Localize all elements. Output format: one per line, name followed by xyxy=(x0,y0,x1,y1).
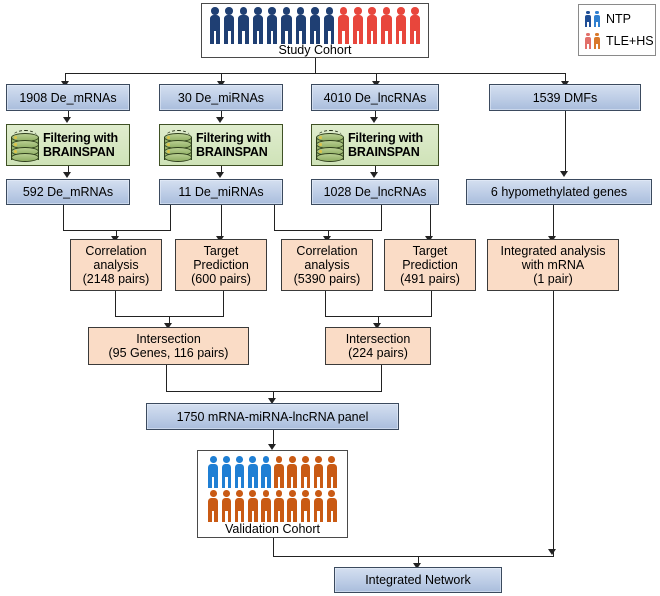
arrowhead-filter-1 xyxy=(63,117,71,123)
person-icon xyxy=(207,490,219,522)
node-integrated-network-label: Integrated Network xyxy=(339,573,497,587)
person-icon xyxy=(260,456,272,488)
connector-mirna11-mid-down xyxy=(221,205,222,238)
person-icon xyxy=(299,456,311,488)
node-de-lncrnas[interactable]: 4010 De_lncRNAs xyxy=(311,84,439,111)
person-icon xyxy=(247,456,259,488)
person-icon xyxy=(394,7,407,43)
person-icon xyxy=(593,11,601,28)
connector-row1-bus xyxy=(65,73,565,74)
node-correlation-analysis-2[interactable]: Correlation analysis (5390 pairs) xyxy=(281,239,373,291)
person-icon xyxy=(326,490,338,522)
study-cohort-people xyxy=(208,4,421,43)
inter1-line1: Intersection xyxy=(93,332,244,346)
filter1-line1: Filtering with xyxy=(43,131,118,145)
connector-target2-out xyxy=(431,291,432,317)
person-icon xyxy=(351,7,364,43)
target2-line2: Prediction xyxy=(389,258,471,272)
person-icon xyxy=(294,7,307,43)
connector-integrated-rail xyxy=(553,291,554,556)
person-icon xyxy=(313,456,325,488)
person-icon-group-ntp xyxy=(584,11,601,28)
person-icon xyxy=(266,7,279,43)
connector-inter2-out xyxy=(381,365,382,392)
node-filtered-mirnas[interactable]: 11 De_miRNAs xyxy=(159,179,283,205)
person-icon xyxy=(260,490,272,522)
node-panel-label: 1750 mRNA-miRNA-lncRNA panel xyxy=(151,410,394,424)
person-icon xyxy=(286,490,298,522)
person-icon-group-tle xyxy=(584,33,601,50)
node-intersection-1[interactable]: Intersection (95 Genes, 116 pairs) xyxy=(88,327,249,365)
arrowhead-integrated-rail xyxy=(548,549,556,555)
study-cohort-box: Study Cohort xyxy=(201,3,429,58)
integrated-line1: Integrated analysis xyxy=(492,244,614,258)
person-icon xyxy=(280,7,293,43)
corr2-line1: Correlation xyxy=(286,244,368,258)
person-icon xyxy=(584,11,592,28)
target2-line1: Target xyxy=(389,244,471,258)
database-icon xyxy=(10,128,40,162)
legend: NTP TLE+HS xyxy=(578,4,656,56)
person-icon xyxy=(409,7,422,43)
node-dmfs-label: 1539 DMFs xyxy=(494,91,636,105)
node-filter-brainspan-mrna-label: Filtering with BRAINSPAN xyxy=(43,131,126,159)
person-icon xyxy=(251,7,264,43)
person-icon xyxy=(584,33,592,50)
node-target-prediction-1[interactable]: Target Prediction (600 pairs) xyxy=(175,239,267,291)
node-filter-brainspan-mirna[interactable]: Filtering with BRAINSPAN xyxy=(159,124,283,166)
corr2-line2: analysis xyxy=(286,258,368,272)
filter1-line2: BRAINSPAN xyxy=(43,145,115,159)
target2-line3: (491 pairs) xyxy=(389,272,471,286)
database-icon xyxy=(315,128,345,162)
corr1-line2: analysis xyxy=(75,258,157,272)
node-filter-brainspan-lncrna-label: Filtering with BRAINSPAN xyxy=(348,131,435,159)
node-intersection-2[interactable]: Intersection (224 pairs) xyxy=(325,327,431,365)
node-de-mirnas-label: 30 De_miRNAs xyxy=(164,91,278,105)
legend-label-ntp: NTP xyxy=(606,13,631,26)
integrated-line2: with mRNA xyxy=(492,258,614,272)
node-target-prediction-2[interactable]: Target Prediction (491 pairs) xyxy=(384,239,476,291)
integrated-line3: (1 pair) xyxy=(492,272,614,286)
validation-cohort-box: Validation Cohort xyxy=(197,450,348,538)
arrowhead-filter-2 xyxy=(216,117,224,123)
connector-network-bus xyxy=(273,556,554,557)
filter3-line1: Filtering with xyxy=(348,131,423,145)
node-filter-brainspan-mirna-label: Filtering with BRAINSPAN xyxy=(196,131,279,159)
person-icon xyxy=(337,7,350,43)
node-correlation-analysis-1[interactable]: Correlation analysis (2148 pairs) xyxy=(70,239,162,291)
arrowhead-f-lncrnas xyxy=(370,172,378,178)
person-icon xyxy=(380,7,393,43)
arrowhead-filter-3 xyxy=(370,117,378,123)
node-integrated-analysis[interactable]: Integrated analysis with mRNA (1 pair) xyxy=(487,239,619,291)
node-de-mrnas[interactable]: 1908 De_mRNAs xyxy=(6,84,130,111)
corr2-line3: (5390 pairs) xyxy=(286,272,368,286)
validation-cohort-people-row2 xyxy=(207,488,338,522)
person-icon xyxy=(247,490,259,522)
person-icon xyxy=(299,490,311,522)
node-filtered-mirnas-label: 11 De_miRNAs xyxy=(164,185,278,199)
inter2-line1: Intersection xyxy=(330,332,426,346)
flowchart-canvas: NTP TLE+HS Study Cohor xyxy=(0,0,660,596)
person-icon xyxy=(593,33,601,50)
person-icon xyxy=(220,456,232,488)
validation-cohort-people-row1 xyxy=(207,454,338,488)
inter1-line2: (95 Genes, 116 pairs) xyxy=(93,346,244,360)
node-dmfs[interactable]: 1539 DMFs xyxy=(489,84,641,111)
connector-lncrna1028-left-down xyxy=(381,205,382,231)
corr1-line1: Correlation xyxy=(75,244,157,258)
person-icon xyxy=(366,7,379,43)
person-icon xyxy=(313,490,325,522)
person-icon xyxy=(286,456,298,488)
connector-corr2-out xyxy=(325,291,326,317)
target1-line2: Prediction xyxy=(180,258,262,272)
node-de-lncrnas-label: 4010 De_lncRNAs xyxy=(316,91,434,105)
person-icon xyxy=(326,456,338,488)
node-integrated-network[interactable]: Integrated Network xyxy=(334,567,502,593)
person-icon xyxy=(309,7,322,43)
filter3-line2: BRAINSPAN xyxy=(348,145,420,159)
person-icon xyxy=(220,490,232,522)
connector-cohort-stem xyxy=(315,58,316,74)
person-icon xyxy=(223,7,236,43)
connector-validation-down xyxy=(273,538,274,557)
target1-line3: (600 pairs) xyxy=(180,272,262,286)
person-icon xyxy=(234,490,246,522)
connector-dmfs-to-hypo xyxy=(565,111,566,173)
node-de-mrnas-label: 1908 De_mRNAs xyxy=(11,91,125,105)
node-panel[interactable]: 1750 mRNA-miRNA-lncRNA panel xyxy=(146,403,399,430)
arrowhead-f-mrnas xyxy=(63,172,71,178)
filter2-line1: Filtering with xyxy=(196,131,271,145)
connector-hypo-down xyxy=(553,205,554,238)
node-filter-brainspan-lncrna[interactable]: Filtering with BRAINSPAN xyxy=(311,124,439,166)
arrowhead-hypo xyxy=(560,171,568,177)
validation-cohort-caption: Validation Cohort xyxy=(225,522,320,536)
node-filtered-lncrnas[interactable]: 1028 De_lncRNAs xyxy=(311,179,439,205)
person-icon xyxy=(207,456,219,488)
person-icon xyxy=(273,456,285,488)
node-de-mirnas[interactable]: 30 De_miRNAs xyxy=(159,84,283,111)
node-filter-brainspan-mrna[interactable]: Filtering with BRAINSPAN xyxy=(6,124,130,166)
connector-inter1-out xyxy=(166,365,167,392)
node-filtered-mrnas-label: 592 De_mRNAs xyxy=(11,185,125,199)
inter2-line2: (224 pairs) xyxy=(330,346,426,360)
node-filtered-mrnas[interactable]: 592 De_mRNAs xyxy=(6,179,130,205)
connector-mirna11-left-down xyxy=(170,205,171,231)
connector-corr1-out xyxy=(115,291,116,317)
arrowhead-f-mirnas xyxy=(216,172,224,178)
connector-lncrna1028-right-down xyxy=(430,205,431,238)
node-hypomethylated-genes[interactable]: 6 hypomethylated genes xyxy=(466,179,652,205)
study-cohort-caption: Study Cohort xyxy=(279,43,352,57)
person-icon xyxy=(208,7,221,43)
filter2-line2: BRAINSPAN xyxy=(196,145,268,159)
person-icon xyxy=(273,490,285,522)
target1-line1: Target xyxy=(180,244,262,258)
node-filtered-lncrnas-label: 1028 De_lncRNAs xyxy=(316,185,434,199)
legend-label-tle: TLE+HS xyxy=(606,35,654,48)
person-icon xyxy=(323,7,336,43)
connector-mirna11-right-down xyxy=(274,205,275,231)
person-icon xyxy=(234,456,246,488)
legend-row-tle: TLE+HS xyxy=(584,30,650,52)
connector-target1-out xyxy=(223,291,224,317)
connector-mrna592-down xyxy=(63,205,64,231)
legend-row-ntp: NTP xyxy=(584,8,650,30)
corr1-line3: (2148 pairs) xyxy=(75,272,157,286)
node-hypomethylated-genes-label: 6 hypomethylated genes xyxy=(471,185,647,199)
person-icon xyxy=(237,7,250,43)
database-icon xyxy=(163,128,193,162)
